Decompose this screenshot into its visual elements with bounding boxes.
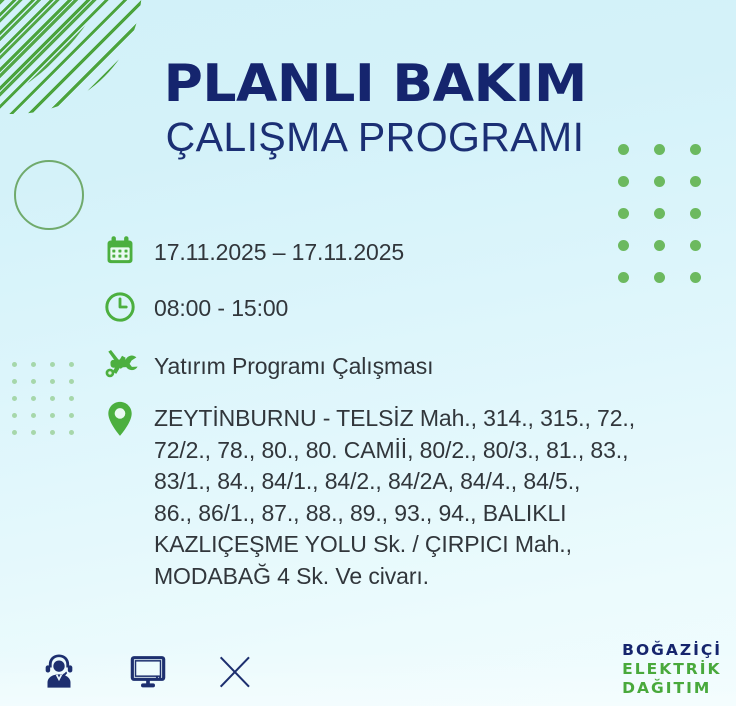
tools-icon: [101, 346, 139, 384]
detail-row-location: ZEYTİNBURNU - TELSİZ Mah., 314., 315., 7…: [101, 400, 701, 592]
page-title: PLANLI BAKIM: [0, 58, 736, 111]
location-line: ZEYTİNBURNU - TELSİZ Mah., 314., 315., 7…: [154, 403, 635, 435]
detail-row-time: 08:00 - 15:00: [101, 288, 701, 326]
footer-contact-icons: [38, 651, 254, 696]
logo-line-bogazici: BOĞAZİÇİ: [622, 641, 722, 660]
location-text: ZEYTİNBURNU - TELSİZ Mah., 314., 315., 7…: [154, 400, 635, 592]
outage-time-range: 08:00 - 15:00: [154, 288, 288, 324]
planned-maintenance-poster: PLANLI BAKIM ÇALIŞMA PROGRAMI 17: [0, 0, 736, 706]
circle-outline-decoration: [14, 160, 84, 230]
location-line: 83/1., 84., 84/1., 84/2., 84/2A, 84/4., …: [154, 466, 635, 498]
outage-date-range: 17.11.2025 – 17.11.2025: [154, 232, 404, 268]
location-line: KAZLIÇEŞME YOLU Sk. / ÇIRPICI Mah.,: [154, 529, 635, 561]
logo-line-elektrik: ELEKTRİK: [622, 660, 722, 679]
logo-line-dagitim: DAĞITIM: [622, 679, 722, 698]
work-type-text: Yatırım Programı Çalışması: [154, 346, 433, 382]
calendar-icon: [101, 232, 139, 270]
detail-row-work-type: Yatırım Programı Çalışması: [101, 346, 701, 384]
outage-details: 17.11.2025 – 17.11.2025 08:00 - 15:00: [101, 232, 701, 608]
monitor-icon[interactable]: [126, 651, 170, 696]
detail-row-date: 17.11.2025 – 17.11.2025: [101, 232, 701, 270]
location-line: 72/2., 78., 80., 80. CAMİİ, 80/2., 80/3.…: [154, 435, 635, 467]
location-line: MODABAĞ 4 Sk. Ve civarı.: [154, 561, 635, 593]
location-line: 86., 86/1., 87., 88., 89., 93., 94., BAL…: [154, 498, 635, 530]
support-agent-icon[interactable]: [38, 651, 80, 696]
dot-grid-left-decoration: [12, 362, 88, 447]
poster-header: PLANLI BAKIM ÇALIŞMA PROGRAMI: [0, 58, 736, 160]
map-pin-icon: [101, 400, 139, 438]
bogazici-elektrik-dagitim-logo: BOĞAZİÇİ ELEKTRİK DAĞITIM: [622, 641, 722, 698]
x-twitter-icon[interactable]: [216, 653, 254, 696]
clock-icon: [101, 288, 139, 326]
page-subtitle: ÇALIŞMA PROGRAMI: [0, 115, 736, 160]
